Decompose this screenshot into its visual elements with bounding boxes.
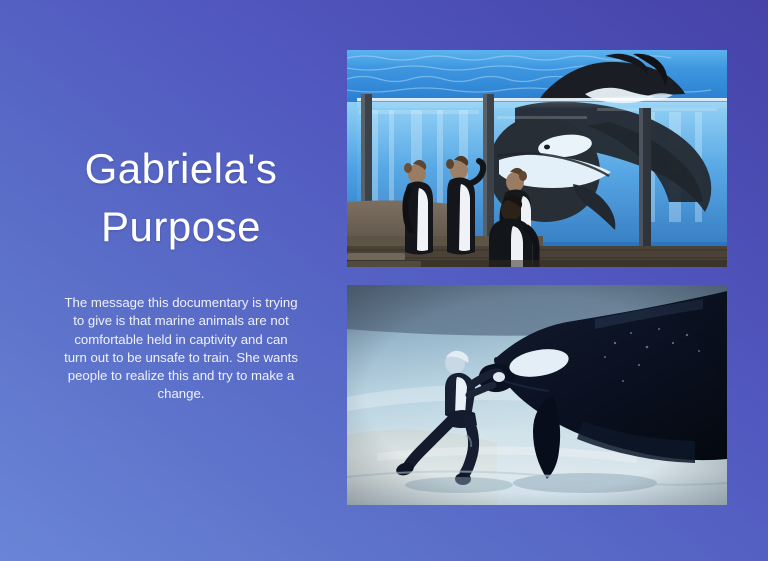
orca-glass-illustration [347,50,727,267]
page-title: Gabriela's Purpose [40,140,322,256]
slide-canvas: Gabriela's Purpose The message this docu… [0,0,768,561]
text-column: Gabriela's Purpose The message this docu… [40,140,322,404]
trainer-pushing-orca-rostrum-photo [347,285,727,505]
underwater-trainer-illustration [347,285,727,505]
orca-behind-viewing-glass-photo [347,50,727,267]
body-paragraph: The message this documentary is trying t… [40,294,322,404]
